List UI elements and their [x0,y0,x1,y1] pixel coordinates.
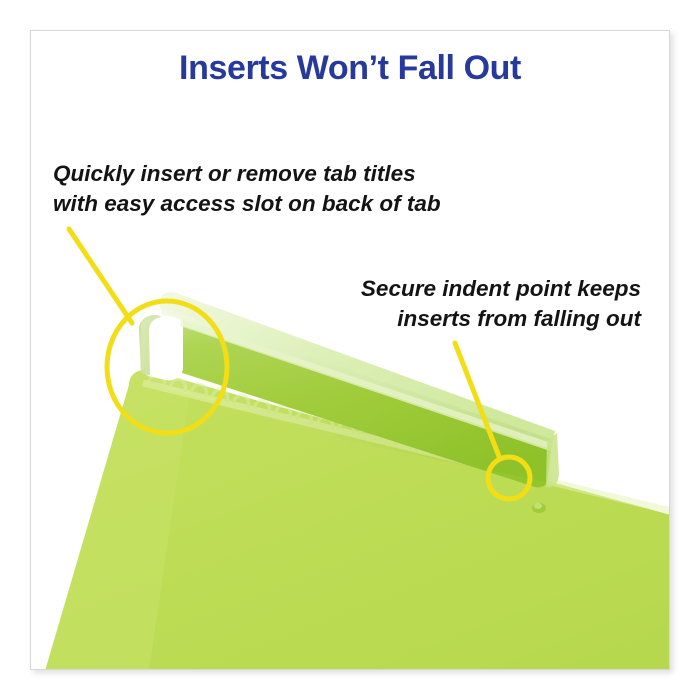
product-feature-image: Inserts Won’t Fall Out [0,0,700,700]
callout-text-access-slot: Quickly insert or remove tab titles with… [53,159,441,219]
photo-frame: Inserts Won’t Fall Out [30,30,670,670]
callout-text-indent-point: Secure indent point keeps inserts from f… [361,274,641,334]
indent-point [532,503,546,513]
product-photo [31,31,669,669]
